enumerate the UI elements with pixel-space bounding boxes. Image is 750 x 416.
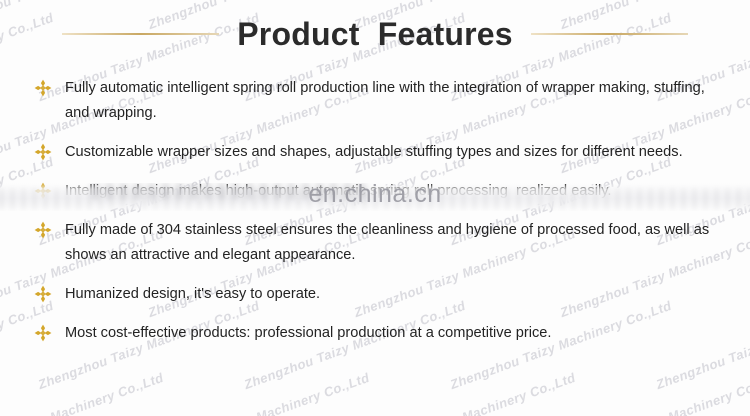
feature-text: Most cost-effective products: profession…: [65, 321, 728, 346]
header: Product Features: [0, 0, 750, 68]
feature-text: Humanized design, it's easy to operate.: [65, 282, 728, 307]
product-features-slide: Zhengzhou Taizy Machinery Co.,LtdZhengzh…: [0, 0, 750, 416]
watermark-text: Zhengzhou Taizy Machinery Co.,Ltd: [0, 370, 165, 416]
feature-text: Intelligent design makes high-output aut…: [65, 179, 728, 204]
four-petal-diamond-bullet-icon: [33, 78, 53, 98]
left-rule-icon: [62, 33, 219, 35]
feature-item: Fully made of 304 stainless steel ensure…: [0, 218, 750, 268]
feature-item: Humanized design, it's easy to operate.: [0, 282, 750, 307]
four-petal-diamond-bullet-icon: [33, 323, 53, 343]
feature-text: Fully automatic intelligent spring roll …: [65, 76, 728, 126]
feature-item: Most cost-effective products: profession…: [0, 321, 750, 346]
right-rule-icon: [531, 33, 688, 35]
watermark-text: Zhengzhou Taizy Machinery Co.,Ltd: [352, 370, 577, 416]
watermark-text: Zhengzhou Taizy Machinery Co.,Ltd: [558, 370, 750, 416]
feature-item: Fully automatic intelligent spring roll …: [0, 76, 750, 126]
feature-text: Fully made of 304 stainless steel ensure…: [65, 218, 728, 268]
four-petal-diamond-bullet-icon: [33, 284, 53, 304]
page-title: Product Features: [237, 18, 512, 50]
feature-item: Customizable wrapper sizes and shapes, a…: [0, 140, 750, 165]
four-petal-diamond-bullet-icon: [33, 181, 53, 201]
watermark-text: Zhengzhou Taizy Machinery Co.,Ltd: [146, 370, 371, 416]
four-petal-diamond-bullet-icon: [33, 220, 53, 240]
feature-list: Fully automatic intelligent spring roll …: [0, 76, 750, 360]
feature-text: Customizable wrapper sizes and shapes, a…: [65, 140, 728, 165]
feature-item: Intelligent design makes high-output aut…: [0, 179, 750, 204]
four-petal-diamond-bullet-icon: [33, 142, 53, 162]
